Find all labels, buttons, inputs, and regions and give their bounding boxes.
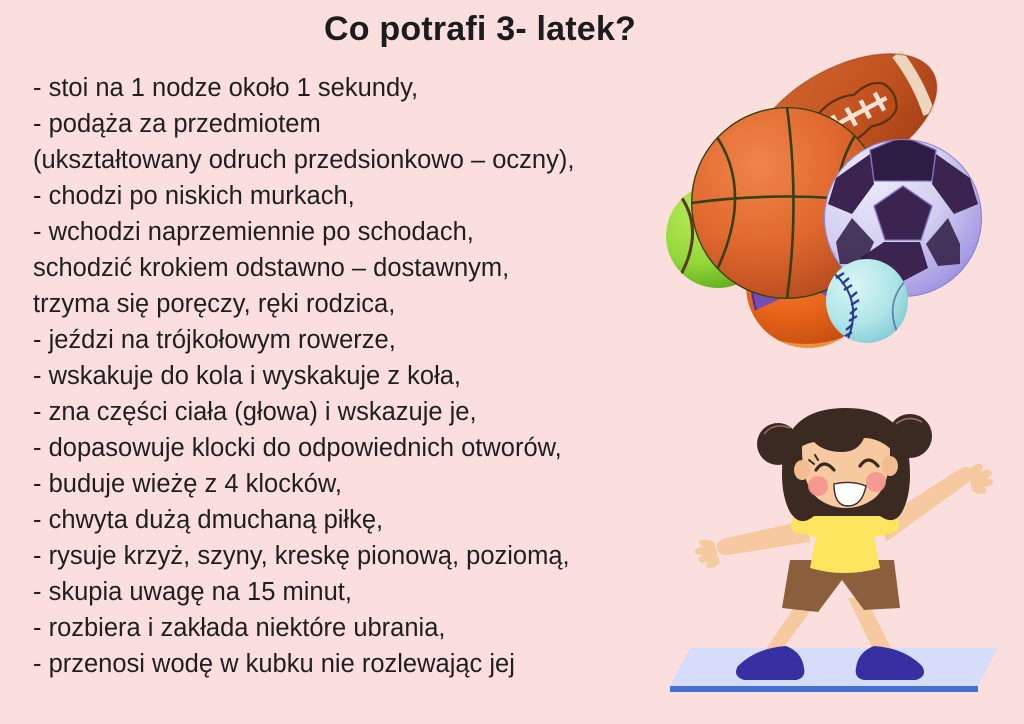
- list-item: - stoi na 1 nodze około 1 sekundy,: [33, 70, 658, 106]
- list-item: - buduje wieżę z 4 klocków,: [33, 466, 658, 502]
- page-title: Co potrafi 3- latek?: [0, 10, 960, 49]
- list-item: - rysuje krzyż, szyny, kreskę pionową, p…: [33, 538, 658, 574]
- list-item: trzyma się poręczy, ręki rodzica,: [33, 286, 658, 322]
- list-item: - zna części ciała (głowa) i wskazuje je…: [33, 394, 658, 430]
- list-item: (ukształtowany odruch przedsionkowo – oc…: [33, 142, 658, 178]
- list-item: - skupia uwagę na 15 minut,: [33, 574, 658, 610]
- list-item: - chodzi po niskich murkach,: [33, 178, 658, 214]
- yoga-mat: [670, 648, 998, 692]
- poster-canvas: Co potrafi 3- latek? - stoi na 1 nodze o…: [0, 0, 1024, 724]
- exercising-girl-illustration: [668, 408, 1024, 718]
- list-item: - podąża za przedmiotem: [33, 106, 658, 142]
- list-item: - rozbiera i zakłada niektóre ubrania,: [33, 610, 658, 646]
- list-item: - wchodzi naprzemiennie po schodach,: [33, 214, 658, 250]
- skills-list: - stoi na 1 nodze około 1 sekundy, - pod…: [33, 70, 658, 682]
- sports-balls-illustration: [660, 58, 1024, 358]
- list-item: - wskakuje do kola i wyskakuje z koła,: [33, 358, 658, 394]
- list-item: - jeździ na trójkołowym rowerze,: [33, 322, 658, 358]
- list-item: - przenosi wodę w kubku nie rozlewając j…: [33, 646, 658, 682]
- list-item: schodzić krokiem odstawno – dostawnym,: [33, 250, 658, 286]
- list-item: - chwyta dużą dmuchaną piłkę,: [33, 502, 658, 538]
- list-item: - dopasowuje klocki do odpowiednich otwo…: [33, 430, 658, 466]
